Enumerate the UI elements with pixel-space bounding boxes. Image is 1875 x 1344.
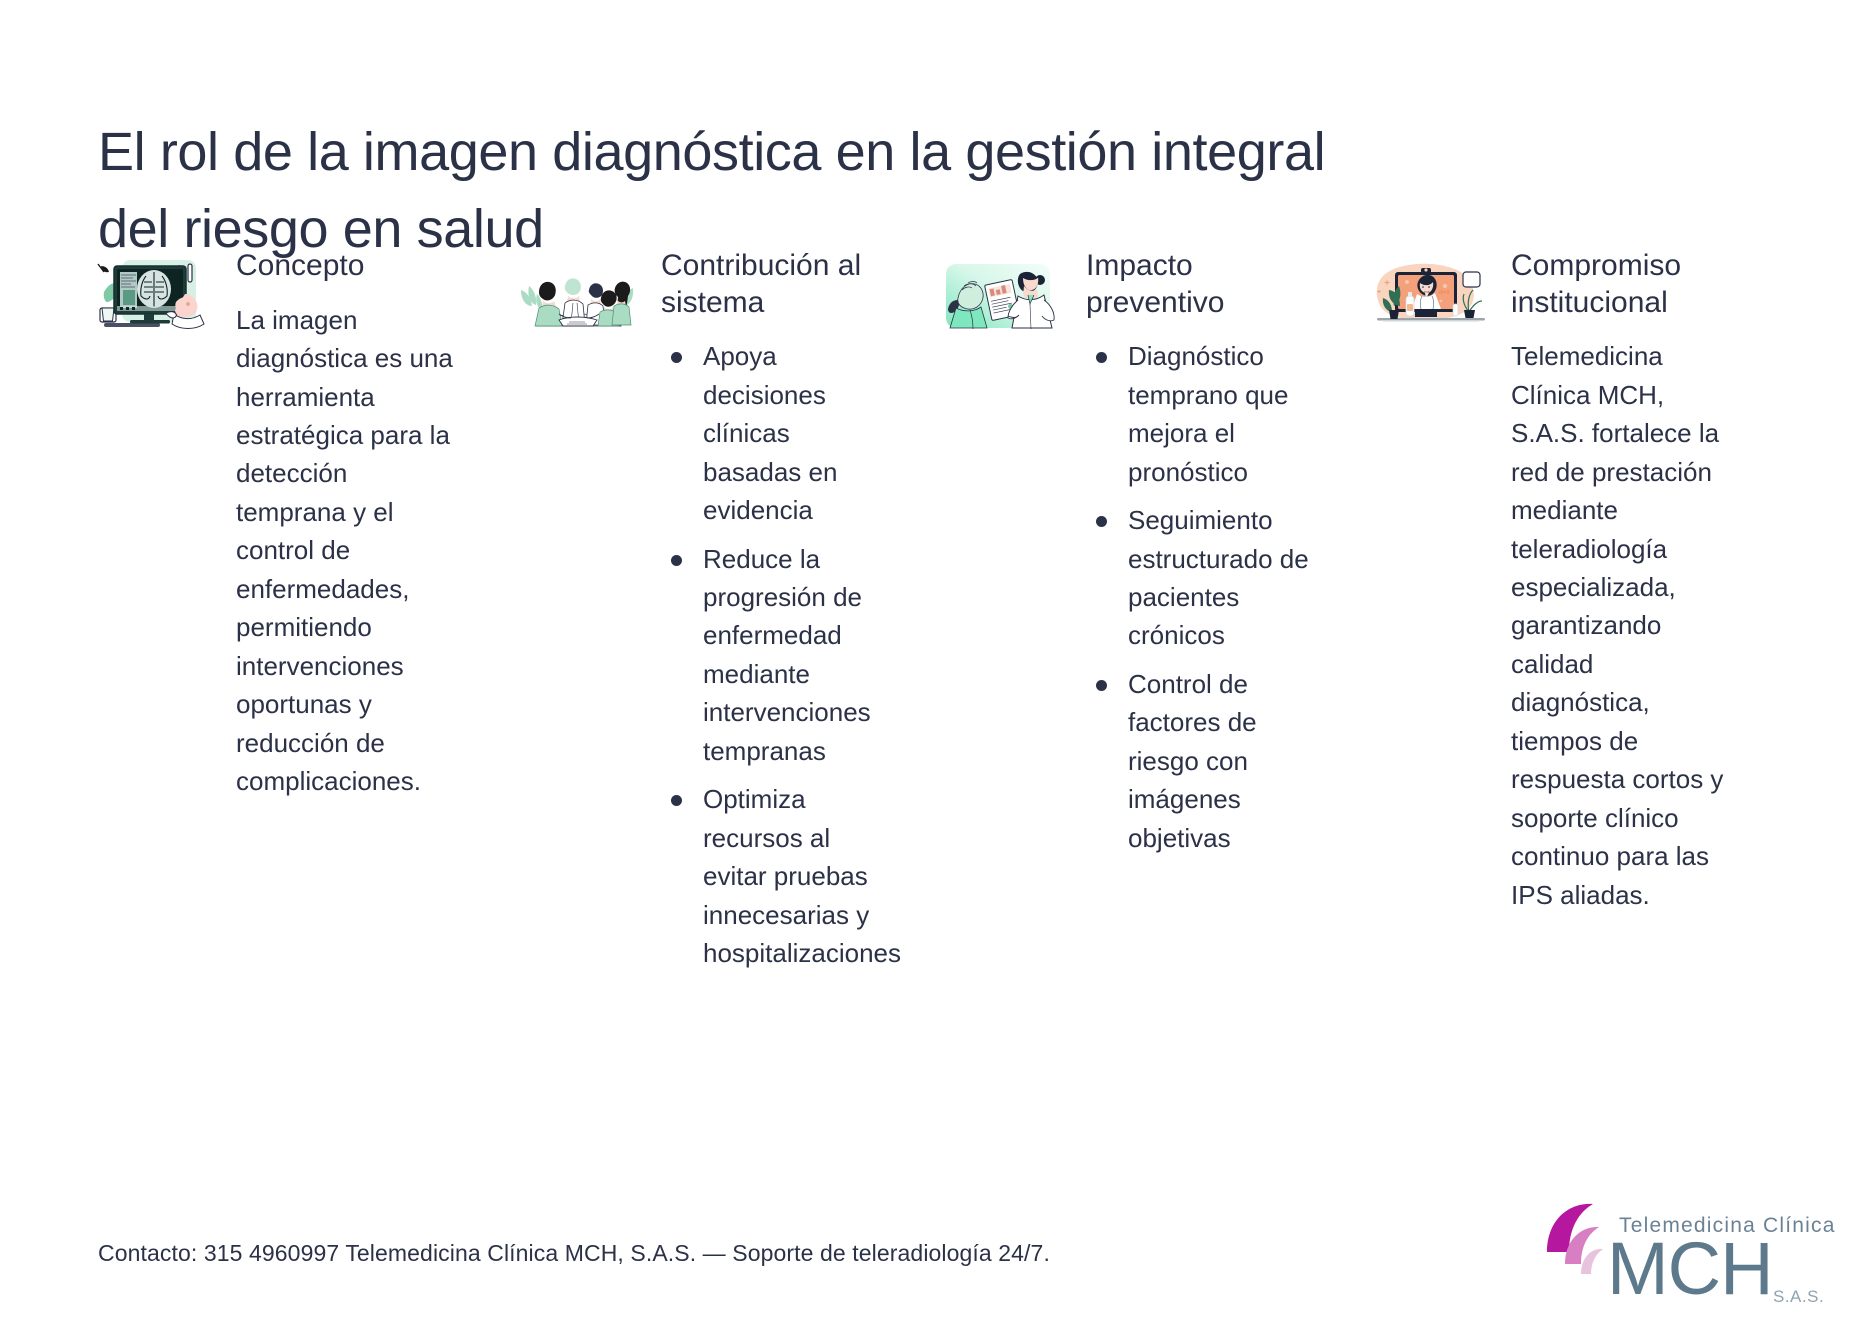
list-item: Reduce la progresión de enfermedad media… [661,540,889,771]
column-heading: Contribución al sistema [661,248,889,321]
list-item: Apoya decisiones clínicas basadas en evi… [661,337,889,529]
column-bullet-list: Apoya decisiones clínicas basadas en evi… [661,337,889,973]
column-body: Compromiso institucional Telemedicina Cl… [1493,248,1739,914]
column-heading: Compromiso institucional [1511,248,1739,321]
column-heading: Concepto [236,248,464,285]
column-bullet-list: Diagnóstico temprano que mejora el pronó… [1086,337,1314,857]
column-contribucion-al-sistema: Contribución al sistema Apoya decisiones… [515,248,940,983]
footer-contact-text: Contacto: 315 4960997 Telemedicina Clíni… [98,1240,1050,1267]
column-heading: Impacto preventivo [1086,248,1314,321]
svg-text:d=0: d=0 [1439,290,1450,296]
doctor-patient-consultation-icon [940,256,1068,342]
list-item: Optimiza recursos al evitar pruebas inne… [661,780,889,972]
logo-suffix: S.A.S. [1773,1287,1824,1306]
column-paragraph: Telemedicina Clínica MCH, S.A.S. fortale… [1511,337,1739,914]
list-item: Seguimiento estructurado de pacientes cr… [1086,501,1314,655]
column-body: Contribución al sistema Apoya decisiones… [643,248,889,983]
column-concepto: Concepto La imagen diagnóstica es una he… [90,248,515,801]
radiology-xray-monitor-icon [90,256,218,342]
column-impacto-preventivo: Impacto preventivo Diagnóstico temprano … [940,248,1365,867]
mch-logo: Telemedicina Clínica MCH S.A.S. [1535,1194,1835,1314]
column-body: Impacto preventivo Diagnóstico temprano … [1068,248,1314,867]
telemedicine-screen-icon: d=0 [1365,256,1493,342]
column-body: Concepto La imagen diagnóstica es una he… [218,248,464,801]
medical-team-meeting-icon [515,256,643,342]
list-item: Control de factores de riesgo con imágen… [1086,665,1314,857]
column-compromiso-institucional: d=0 [1365,248,1790,914]
page-title: El rol de la imagen diagnóstica en la ge… [98,114,1778,267]
column-paragraph: La imagen diagnóstica es una herramienta… [236,301,464,801]
slide-canvas: El rol de la imagen diagnóstica en la ge… [0,0,1875,1344]
content-columns: Concepto La imagen diagnóstica es una he… [90,248,1790,983]
logo-wordmark: MCH [1607,1227,1773,1310]
list-item: Diagnóstico temprano que mejora el pronó… [1086,337,1314,491]
